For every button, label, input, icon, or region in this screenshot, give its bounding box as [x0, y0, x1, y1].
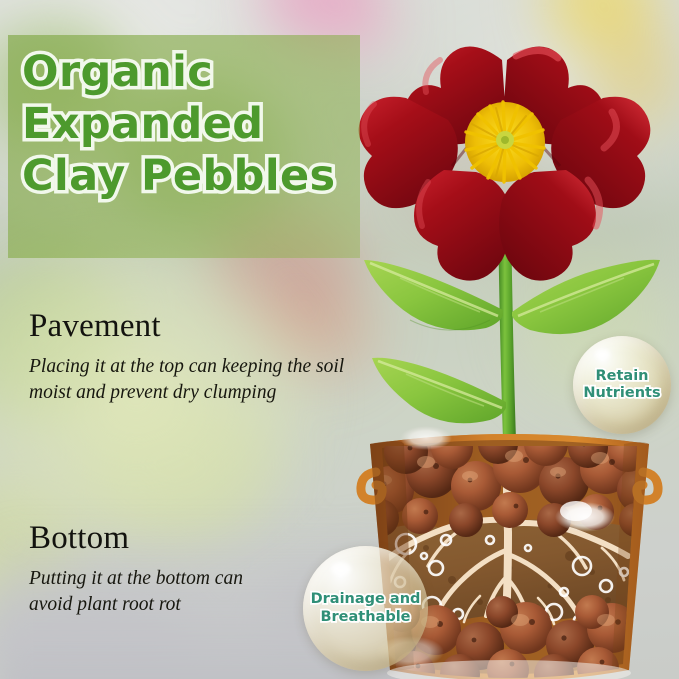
callout-retain-nutrients-label: Retain Nutrients [573, 368, 671, 402]
callout-bubble-drainage-breathable: Drainage and Breathable [303, 546, 428, 671]
title-line-1: Organic [22, 46, 370, 98]
title-line-2: Expanded [22, 98, 370, 150]
flower-head [359, 47, 651, 281]
section-pavement-heading: Pavement [29, 310, 359, 343]
title-line-3: Clay Pebbles [22, 150, 370, 202]
section-pavement: Pavement Placing it at the top can keepi… [29, 310, 359, 406]
page-title: Organic Expanded Clay Pebbles [22, 46, 370, 202]
flower-petal [499, 170, 596, 281]
section-pavement-body: Placing it at the top can keeping the so… [29, 354, 347, 406]
leaf-lower-left [372, 358, 506, 424]
section-bottom-body: Putting it at the bottom can avoid plant… [29, 566, 279, 618]
section-bottom-heading: Bottom [29, 522, 359, 555]
infographic-canvas: Organic Expanded Clay Pebbles Pavement P… [0, 0, 679, 679]
callout-bubble-retain-nutrients: Retain Nutrients [573, 336, 671, 434]
callout-drainage-breathable-label: Drainage and Breathable [304, 591, 428, 625]
